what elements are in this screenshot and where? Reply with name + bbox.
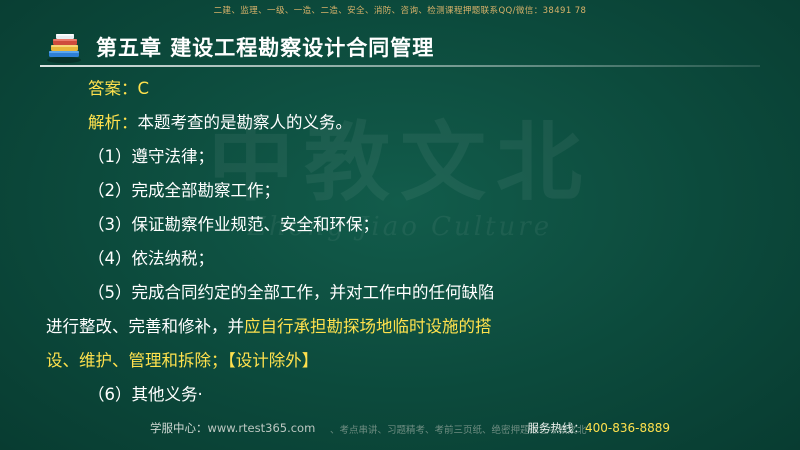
slide-footer: 学服中心：www.rtest365.com 、考点串讲、习题精考、考前三页纸、绝… bbox=[0, 420, 800, 442]
list-item-text: （4）依法纳税； bbox=[88, 249, 214, 268]
answer-line: 答案：C bbox=[0, 72, 800, 106]
list-item-text: （5）完成合同约定的全部工作，并对工作中的任何缺陷 bbox=[88, 283, 495, 302]
list-item-text: （3）保证勘察作业规范、安全和环保； bbox=[88, 215, 379, 234]
footer-service-label: 学服中心： bbox=[150, 421, 208, 435]
list-item: （5）完成合同约定的全部工作，并对工作中的任何缺陷 bbox=[0, 276, 800, 310]
page-title: 第五章 建设工程勘察设计合同管理 bbox=[96, 32, 434, 62]
analysis-label: 解析： bbox=[88, 113, 138, 132]
footer-right: 服务热线：400-836-8889 bbox=[527, 420, 670, 436]
top-contact-banner: 二建、监理、一级、一造、二造、安全、消防、咨询、检测课程押题联系QQ/微信：38… bbox=[0, 4, 800, 16]
list-item-text: （6）其他义务· bbox=[88, 385, 203, 404]
books-icon bbox=[44, 32, 84, 64]
list-item-continued: 进行整改、完善和修补，并应自行承担勘探场地临时设施的搭 bbox=[0, 310, 800, 344]
analysis-line: 解析：本题考查的是勘察人的义务。 bbox=[0, 106, 800, 140]
list-item: （3）保证勘察作业规范、安全和环保； bbox=[0, 208, 800, 242]
list-item: （4）依法纳税； bbox=[0, 242, 800, 276]
hotline-value: 400-836-8889 bbox=[585, 421, 670, 435]
answer-label: 答案： bbox=[88, 79, 138, 98]
answer-value: C bbox=[138, 79, 150, 98]
list-item: （1）遵守法律； bbox=[0, 140, 800, 174]
list-item-text-highlight: 设、维护、管理和拆除；【设计除外】 bbox=[46, 351, 318, 370]
slide-canvas: 中教文北 Zhong Jiao Culture 二建、监理、一级、一造、二造、安… bbox=[0, 0, 800, 450]
list-item: （2）完成全部勘察工作； bbox=[0, 174, 800, 208]
list-item-text-plain: 进行整改、完善和修补，并 bbox=[46, 317, 244, 336]
list-item-text-highlight: 应自行承担勘探场地临时设施的搭 bbox=[244, 317, 492, 336]
analysis-text: 本题考查的是勘察人的义务。 bbox=[138, 113, 353, 132]
title-divider bbox=[40, 65, 760, 67]
list-item-continued: 设、维护、管理和拆除；【设计除外】 bbox=[0, 344, 800, 378]
list-item-text: （1）遵守法律； bbox=[88, 147, 214, 166]
slide-header: 第五章 建设工程勘察设计合同管理 bbox=[0, 28, 800, 68]
footer-website[interactable]: www.rtest365.com bbox=[208, 421, 316, 435]
hotline-label: 服务热线： bbox=[527, 421, 585, 435]
slide-body: 答案：C 解析：本题考查的是勘察人的义务。 （1）遵守法律； （2）完成全部勘察… bbox=[0, 72, 800, 412]
footer-left: 学服中心：www.rtest365.com bbox=[150, 420, 315, 436]
list-item: （6）其他义务· bbox=[0, 378, 800, 412]
list-item-text: （2）完成全部勘察工作； bbox=[88, 181, 280, 200]
